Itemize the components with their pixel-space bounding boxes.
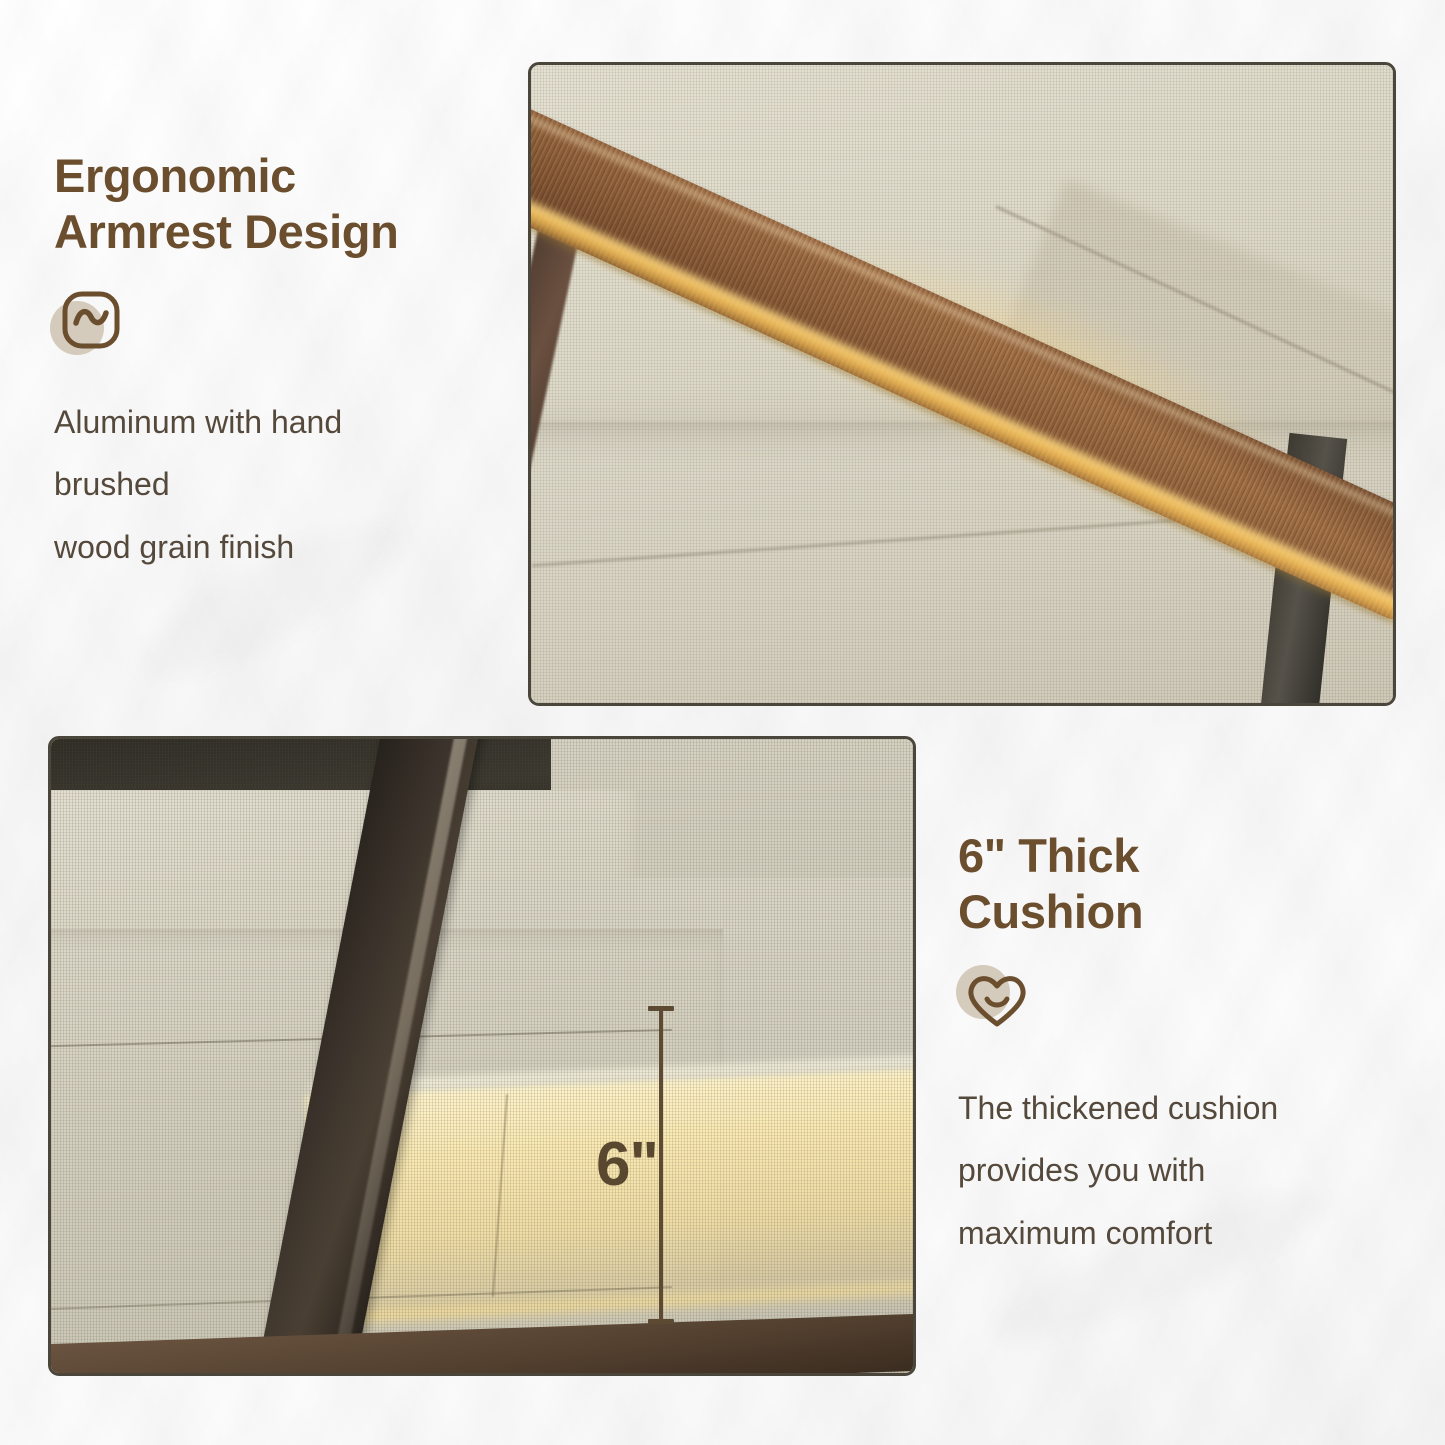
armrest-body-text: Aluminum with hand brushed wood grain fi… (54, 391, 494, 578)
armrest-photo-scene (531, 65, 1393, 703)
cushion-body-text: The thickened cushion provides you with … (958, 1077, 1388, 1264)
dimension-cap-bottom (648, 1319, 674, 1324)
dimension-label: 6" (596, 1134, 658, 1196)
cushion-heading: 6" Thick Cushion (958, 828, 1388, 941)
cushion-thickness-dimension: 6" (648, 1006, 674, 1324)
armrest-photo (528, 62, 1396, 706)
cushion-photo (48, 736, 916, 1376)
fabric-weave (51, 739, 913, 1373)
infographic-page: 6" Ergonomic Armrest Design Aluminum wit… (0, 0, 1445, 1445)
heart-smile-icon (958, 967, 1032, 1041)
armrest-feature-block: Ergonomic Armrest Design Aluminum with h… (54, 148, 494, 578)
cushion-photo-scene (51, 739, 913, 1373)
cushion-feature-block: 6" Thick Cushion The thickened cushion p… (958, 828, 1388, 1264)
wave-squircle-icon (54, 287, 128, 361)
dimension-line (659, 1010, 663, 1320)
armrest-heading: Ergonomic Armrest Design (54, 148, 494, 261)
